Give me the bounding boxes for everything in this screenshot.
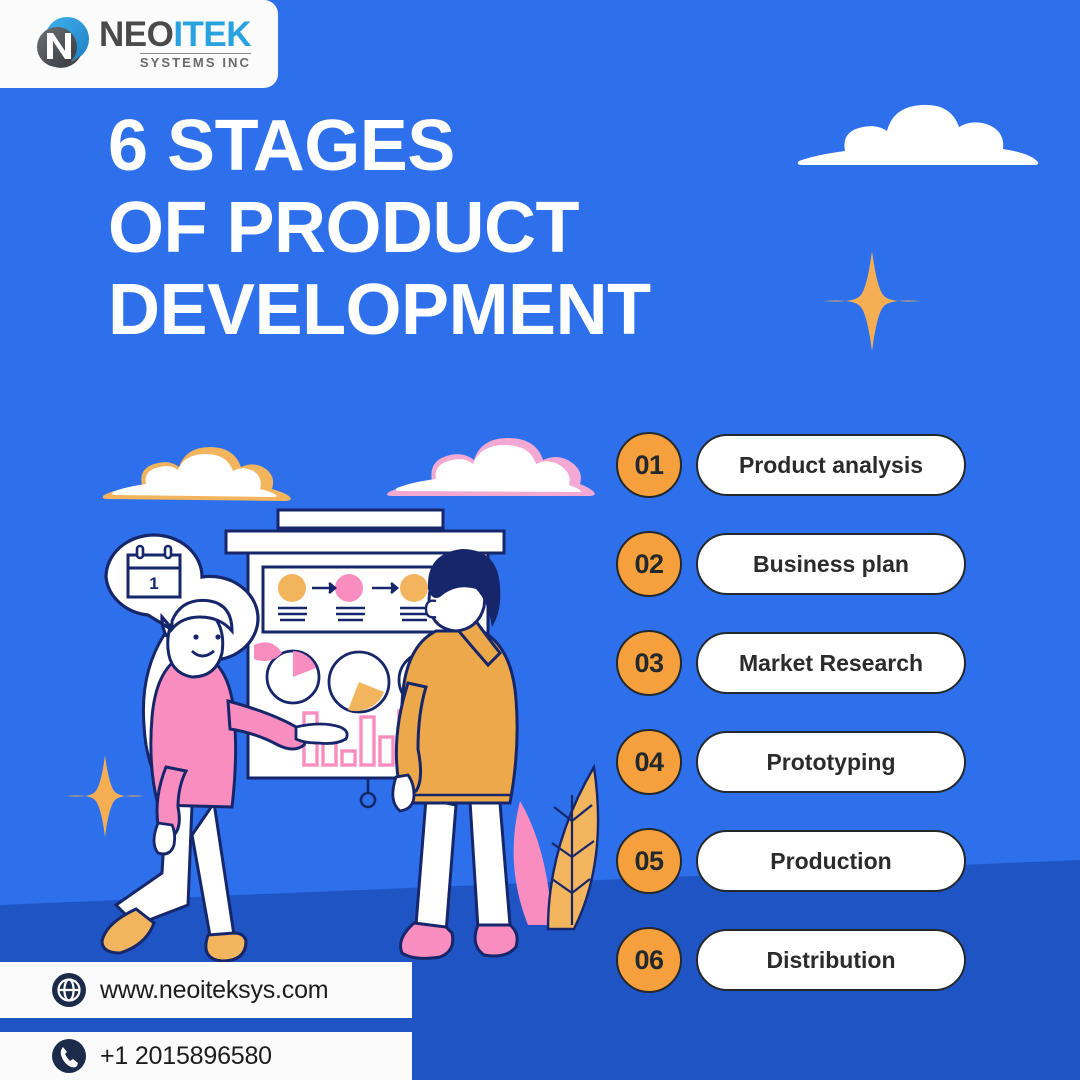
title-line-1: 6 STAGES bbox=[108, 105, 651, 187]
stage-number-badge: 04 bbox=[616, 729, 682, 795]
list-item[interactable]: 05 Production bbox=[616, 828, 966, 894]
stage-list: 01 Product analysis 02 Business plan 03 … bbox=[616, 432, 966, 993]
cloud-icon bbox=[793, 93, 1043, 173]
svg-text:1: 1 bbox=[149, 574, 158, 593]
list-item[interactable]: 01 Product analysis bbox=[616, 432, 966, 498]
page-title: 6 STAGES OF PRODUCT DEVELOPMENT bbox=[108, 105, 651, 351]
logo-subtitle: SYSTEMS INC bbox=[140, 53, 251, 70]
stage-label-pill[interactable]: Product analysis bbox=[696, 434, 966, 496]
stage-number-badge: 03 bbox=[616, 630, 682, 696]
brand-logo-badge[interactable]: NEOITEK SYSTEMS INC bbox=[0, 0, 278, 88]
stage-label-pill[interactable]: Market Research bbox=[696, 632, 966, 694]
globe-icon bbox=[52, 973, 86, 1007]
product-team-illustration: 1 bbox=[96, 505, 616, 975]
stage-number-badge: 01 bbox=[616, 432, 682, 498]
stage-number-badge: 05 bbox=[616, 828, 682, 894]
stage-label-pill[interactable]: Business plan bbox=[696, 533, 966, 595]
stage-label-pill[interactable]: Production bbox=[696, 830, 966, 892]
letter-n-globe-icon bbox=[33, 13, 95, 75]
logo-word-neo: NEO bbox=[99, 15, 173, 54]
stage-label-pill[interactable]: Distribution bbox=[696, 929, 966, 991]
sparkle-star-icon bbox=[824, 251, 920, 351]
cloud-icon bbox=[386, 434, 596, 504]
website-contact-bar[interactable]: www.neoiteksys.com bbox=[0, 962, 412, 1018]
list-item[interactable]: 06 Distribution bbox=[616, 927, 966, 993]
website-url[interactable]: www.neoiteksys.com bbox=[100, 976, 328, 1005]
title-line-2: OF PRODUCT bbox=[108, 187, 651, 269]
cloud-icon bbox=[100, 443, 292, 505]
stage-number-badge: 06 bbox=[616, 927, 682, 993]
stage-label-pill[interactable]: Prototyping bbox=[696, 731, 966, 793]
list-item[interactable]: 03 Market Research bbox=[616, 630, 966, 696]
logo-word-itek: ITEK bbox=[173, 15, 251, 54]
phone-number[interactable]: +1 2015896580 bbox=[100, 1042, 272, 1071]
list-item[interactable]: 02 Business plan bbox=[616, 531, 966, 597]
infographic-canvas: 1 bbox=[0, 0, 1080, 1080]
leaf-plant-icon bbox=[514, 767, 598, 929]
stage-number-badge: 02 bbox=[616, 531, 682, 597]
phone-contact-bar[interactable]: +1 2015896580 bbox=[0, 1032, 412, 1080]
title-line-3: DEVELOPMENT bbox=[108, 269, 651, 351]
list-item[interactable]: 04 Prototyping bbox=[616, 729, 966, 795]
phone-icon bbox=[52, 1039, 86, 1073]
